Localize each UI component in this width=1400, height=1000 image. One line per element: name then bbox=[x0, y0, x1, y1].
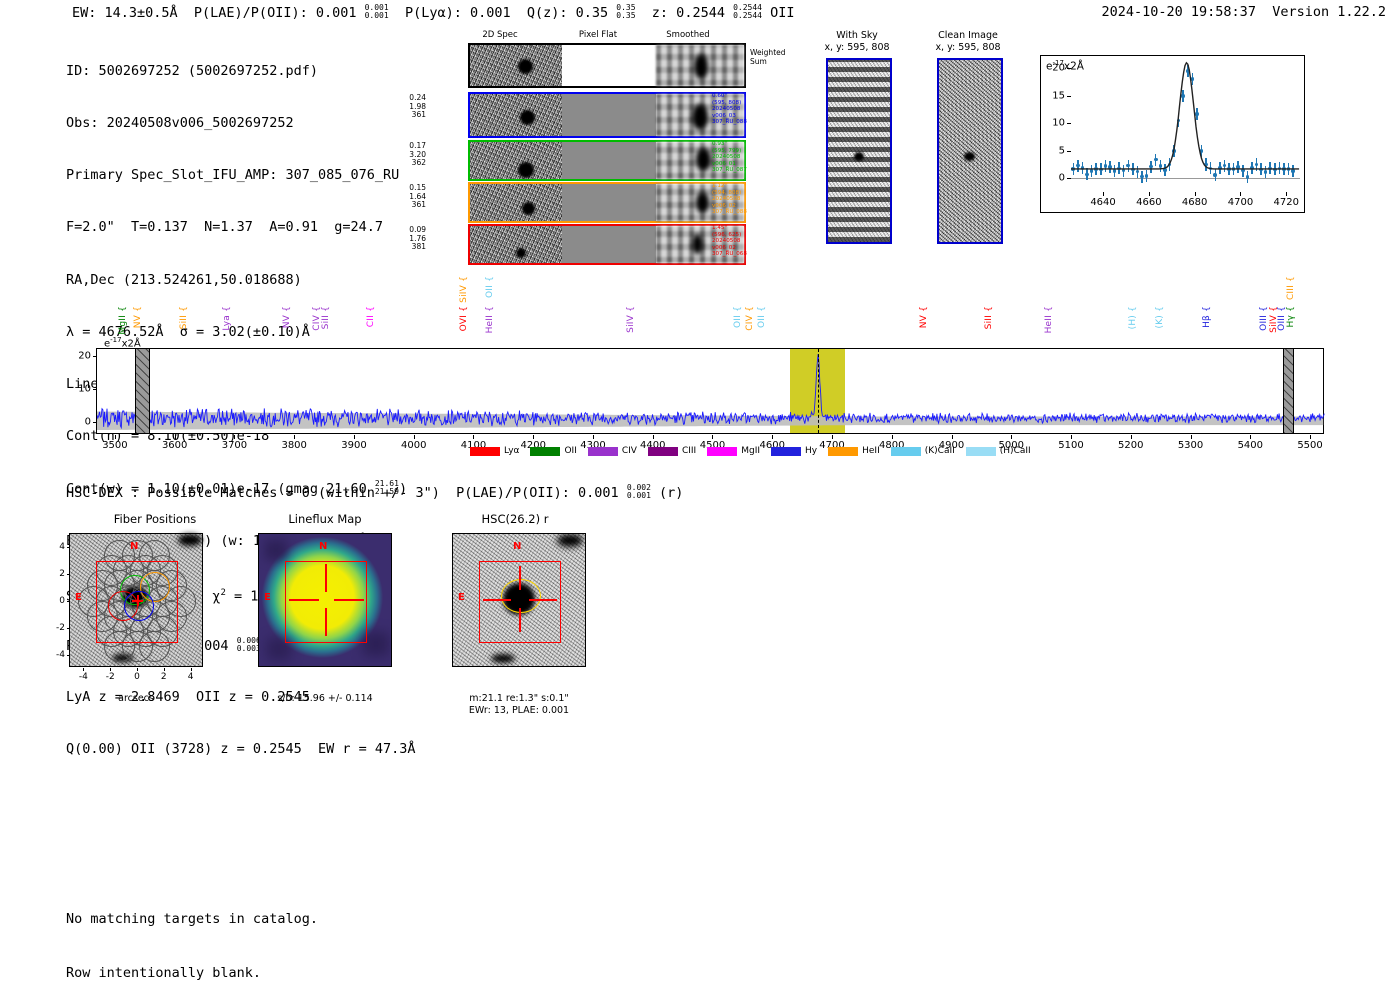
z-errors: 0.25440.2544 bbox=[733, 4, 762, 20]
compass-north-hsc: N bbox=[513, 541, 521, 552]
footer-line-1: No matching targets in catalog. bbox=[66, 910, 318, 928]
spectrum-line-label: (H) { bbox=[1128, 306, 1138, 329]
weighted-sum-row bbox=[468, 43, 746, 88]
panel-xlabel-arcsecs: arcsecs bbox=[69, 693, 203, 705]
fiber-row-meta: 1.45"(596, 625)20240508v006_02307_RU_068 bbox=[712, 225, 772, 258]
legend-swatch bbox=[966, 447, 996, 456]
plae-sub: 0.001 bbox=[365, 12, 389, 20]
spectrum-line-label: CII { bbox=[366, 306, 376, 327]
legend-swatch bbox=[588, 447, 618, 456]
fiber-row-meta: 0.60"(595, 808)20240508v006_03307_RU_088 bbox=[712, 93, 772, 126]
info-line-q: Q(0.00) OII (3728) z = 0.2545 EW r = 47.… bbox=[66, 741, 416, 758]
spectrum-line-label: SiII { bbox=[984, 306, 994, 329]
legend-label: MgII bbox=[741, 446, 760, 456]
legend-label: Lyα bbox=[504, 446, 519, 456]
hsc-aperture-ellipse bbox=[501, 579, 541, 613]
fiber-meta: v006_02 bbox=[712, 203, 772, 210]
legend-item: MgII bbox=[707, 446, 760, 456]
panel-ytick: 4 bbox=[46, 542, 65, 552]
panel-ytick: 2 bbox=[46, 569, 65, 579]
fiber-positions-image: N E -4-4-2-2002244 bbox=[69, 533, 203, 667]
legend-label: CIII bbox=[682, 446, 696, 456]
header-mid2: z: 0.2544 bbox=[636, 5, 734, 21]
legend-item: HeII bbox=[828, 446, 880, 456]
full-spectrum-plot: 0102035003600370038003900400041004200430… bbox=[96, 348, 1324, 434]
spec-ytick: 10 bbox=[63, 383, 91, 394]
spec-xtick: 5300 bbox=[1178, 440, 1203, 451]
legend-swatch bbox=[828, 447, 858, 456]
spec-xtick: 4000 bbox=[401, 440, 426, 451]
spec-xtick: 3800 bbox=[281, 440, 306, 451]
panel-xtick: 2 bbox=[161, 672, 167, 682]
spectrum-line-label: MgII { bbox=[118, 306, 128, 335]
fiber-stat: 361 bbox=[392, 201, 426, 210]
masked-band bbox=[135, 349, 150, 433]
with-sky-coords: x, y: 595, 808 bbox=[824, 42, 889, 53]
compass-east-hsc: E bbox=[458, 592, 465, 603]
footer-line-2: Row intentionally blank. bbox=[66, 964, 318, 982]
hsc-dex-sub: 0.001 bbox=[627, 492, 651, 500]
spectrum-line-label: OII { bbox=[485, 276, 495, 298]
legend-item: OII bbox=[530, 446, 576, 456]
legend-label: CIV bbox=[622, 446, 637, 456]
compass-east-fiber: E bbox=[75, 592, 82, 603]
legend-swatch bbox=[470, 447, 500, 456]
spec-xtick: 3500 bbox=[102, 440, 127, 451]
fiber-meta: 1.45" bbox=[712, 225, 772, 232]
legend-item: CIII bbox=[648, 446, 696, 456]
legend-item: CIV bbox=[588, 446, 637, 456]
fiber-row bbox=[468, 92, 746, 138]
fiber-meta: v006_02 bbox=[712, 245, 772, 252]
clean-image-coords: x, y: 595, 808 bbox=[935, 42, 1000, 53]
fiber-meta: 20240508 bbox=[712, 238, 772, 245]
fiber-meta: 307_RU_088 bbox=[712, 209, 772, 216]
legend-label: OII bbox=[564, 446, 576, 456]
plae-ratio-errors: 0.0010.001 bbox=[365, 4, 389, 20]
fiber-row-stats: 0.241.98361 bbox=[392, 94, 426, 120]
fiber-meta: 307_RU_088 bbox=[712, 119, 772, 126]
spectrum-line-label: SiII { bbox=[179, 306, 189, 329]
spec-xtick: 5500 bbox=[1297, 440, 1322, 451]
lineflux-map-image: N E -4-4-2-2002244 bbox=[258, 533, 392, 667]
fiber-meta: 307_RU_087 bbox=[712, 167, 772, 174]
qz-sub: 0.35 bbox=[616, 12, 635, 20]
spectrum-line-label: Hγ { bbox=[1286, 306, 1296, 327]
fiber-row-meta: 1.12"(594, 808)20240508v006_02307_RU_088 bbox=[712, 183, 772, 216]
qz-errors: 0.350.35 bbox=[616, 4, 635, 20]
spec-xtick: 5400 bbox=[1238, 440, 1263, 451]
footer-note: No matching targets in catalog. Row inte… bbox=[66, 874, 318, 1000]
spec-xtick: 5100 bbox=[1058, 440, 1083, 451]
fiber-meta: 0.93" bbox=[712, 141, 772, 148]
with-sky-cutout bbox=[826, 58, 892, 244]
z-sub: 0.2544 bbox=[733, 12, 762, 20]
spectrum-line-label: SiII { bbox=[321, 306, 331, 329]
weighted-sum-label: WeightedSum bbox=[750, 48, 786, 66]
fiber-meta: (594, 808) bbox=[712, 190, 772, 197]
spectrum-line-label: NV { bbox=[919, 306, 929, 328]
fiber-stat: 362 bbox=[392, 159, 426, 168]
legend-label: HeII bbox=[862, 446, 880, 456]
spectrum-line-label: (K) { bbox=[1155, 306, 1165, 329]
panel-ytick: 0 bbox=[46, 596, 65, 606]
fiber-meta: 0.60" bbox=[712, 93, 772, 100]
spectrum-line-label: NV { bbox=[133, 306, 143, 328]
fiber-meta: 1.12" bbox=[712, 183, 772, 190]
spec-xtick: 3900 bbox=[341, 440, 366, 451]
spectrum-line-label: OII { bbox=[733, 306, 743, 328]
hsc-r-image: N E -4-4-2-2002244 bbox=[452, 533, 586, 667]
spectrum-line-label: SiIV { bbox=[459, 276, 469, 303]
fiber-stat: 361 bbox=[392, 111, 426, 120]
fiber-meta: (595, 799) bbox=[712, 148, 772, 155]
fiber-row-stats: 0.173.20362 bbox=[392, 142, 426, 168]
panel-ytick: -4 bbox=[46, 650, 65, 660]
fiber-meta: (595, 808) bbox=[712, 100, 772, 107]
cutout-title-clean: Clean Image x, y: 595, 808 bbox=[918, 30, 1018, 53]
fiber-row bbox=[468, 182, 746, 223]
cutout-title-with-sky: With Sky x, y: 595, 808 bbox=[812, 30, 902, 53]
legend-swatch bbox=[771, 447, 801, 456]
legend-item: Lyα bbox=[470, 446, 519, 456]
panel-xtick: 4 bbox=[188, 672, 194, 682]
panel-title-lineflux-map: Lineflux Map bbox=[240, 512, 410, 526]
legend-label: (K)CaII bbox=[925, 446, 955, 456]
spectrum-line-label: Hβ { bbox=[1202, 306, 1212, 328]
info-line-primary-spec: Primary Spec_Slot_IFU_AMP: 307_085_076_R… bbox=[66, 167, 416, 184]
masked-band bbox=[1283, 349, 1294, 433]
fiber-meta: 20240508 bbox=[712, 106, 772, 113]
timestamp-version: 2024-10-20 19:58:37 Version 1.22.2 bbox=[1102, 4, 1386, 20]
col-title-2d-spec: 2D Spec bbox=[460, 30, 540, 40]
fiber-meta: 20240508 bbox=[712, 196, 772, 203]
info-line-params: F=2.0" T=0.137 N=1.37 A=0.91 g=24.7 bbox=[66, 219, 416, 236]
spectrum-line-label: OIII { bbox=[1259, 306, 1269, 331]
legend-item: (H)CaII bbox=[966, 446, 1031, 456]
spectrum-line-labels: MgII {NV {SiII {Lya {NV {CIV {SiII {CII … bbox=[96, 276, 1324, 348]
fiber-meta: v006_01 bbox=[712, 161, 772, 168]
emission-marker-line bbox=[818, 349, 820, 433]
compass-north-lineflux: N bbox=[319, 541, 327, 552]
header-mid1: P(Lyα): 0.001 Q(z): 0.35 bbox=[389, 5, 617, 21]
spectrum-line-label: CIII { bbox=[1286, 276, 1296, 300]
compass-north-fiber: N bbox=[130, 541, 138, 552]
panel-xtick: 0 bbox=[134, 672, 140, 682]
spectrum-line-label: HeII { bbox=[1044, 306, 1054, 333]
fiber-highlight-blue bbox=[124, 591, 154, 621]
panel-title-hsc-r: HSC(26.2) r bbox=[425, 512, 605, 526]
panel-xtick: -2 bbox=[106, 672, 115, 682]
spectrum-line-label: HeII { bbox=[485, 306, 495, 333]
with-sky-title: With Sky bbox=[836, 30, 877, 41]
compass-east-lineflux: E bbox=[264, 592, 271, 603]
panel-caption-sb: s/b: 15.96 +/- 0.114 bbox=[238, 693, 412, 705]
fiber-row-stats: 0.151.64361 bbox=[392, 184, 426, 210]
fiber-row-stats: 0.091.76381 bbox=[392, 226, 426, 252]
fiber-meta: v006_03 bbox=[712, 113, 772, 120]
fiber-stat: 381 bbox=[392, 243, 426, 252]
header-tail: OII bbox=[762, 5, 795, 21]
legend-swatch bbox=[648, 447, 678, 456]
spectrum-line-label: SiIV { bbox=[626, 306, 636, 333]
legend-swatch bbox=[707, 447, 737, 456]
fiber-row-meta: 0.93"(595, 799)20240508v006_01307_RU_087 bbox=[712, 141, 772, 174]
spec-xtick: 3700 bbox=[222, 440, 247, 451]
col-title-smoothed: Smoothed bbox=[648, 30, 728, 40]
legend-swatch bbox=[891, 447, 921, 456]
lz-fit-curve bbox=[1041, 56, 1306, 214]
spectrum-legend: LyαOIICIVCIIIMgIIHyHeII(K)CaII(H)CaII bbox=[470, 446, 1031, 456]
hsc-dex-summary: HSC-DEX : Possible Matches = 0 (within +… bbox=[66, 484, 683, 501]
legend-label: (H)CaII bbox=[1000, 446, 1031, 456]
spectrum-line-label: NV { bbox=[282, 306, 292, 328]
spectrum-line-label: OVI { bbox=[459, 306, 469, 331]
fiber-meta: 20240508 bbox=[712, 154, 772, 161]
panel-xtick: -4 bbox=[79, 672, 88, 682]
header-summary-prefix: EW: 14.3±0.5Å P(LAE)/P(OII): 0.001 bbox=[72, 5, 365, 21]
panel-ytick: -2 bbox=[46, 623, 65, 633]
legend-swatch bbox=[530, 447, 560, 456]
spec-xtick: 5200 bbox=[1118, 440, 1143, 451]
hsc-dex-tail: (r) bbox=[651, 485, 684, 501]
header-summary: EW: 14.3±0.5Å P(LAE)/P(OII): 0.001 0.001… bbox=[72, 4, 795, 21]
spectrum-line-label: CIV { bbox=[745, 306, 755, 331]
fiber-row bbox=[468, 224, 746, 265]
clean-image-cutout bbox=[937, 58, 1003, 244]
clean-image-title: Clean Image bbox=[938, 30, 998, 41]
spectrum-trace bbox=[97, 349, 1325, 435]
spec-ytick: 0 bbox=[63, 416, 91, 427]
panel-caption-hsc: m:21.1 re:1.3" s:0.1" EWr: 13, PLAE: 0.0… bbox=[432, 693, 606, 717]
info-line-id: ID: 5002697252 (5002697252.pdf) bbox=[66, 63, 416, 80]
legend-item: (K)CaII bbox=[891, 446, 955, 456]
emission-line-zoom-plot: e-17x2Å 0510152046404660468047004720 bbox=[1040, 55, 1305, 213]
panel-title-fiber-positions: Fiber Positions bbox=[60, 512, 250, 526]
legend-item: Hy bbox=[771, 446, 817, 456]
fiber-meta: (596, 625) bbox=[712, 232, 772, 239]
two-d-spectra-panel: 2D Spec Pixel Flat Smoothed WeightedSum … bbox=[430, 30, 760, 265]
hsc-dex-plae-errors: 0.0020.001 bbox=[627, 484, 651, 500]
col-title-pixel-flat: Pixel Flat bbox=[558, 30, 638, 40]
fiber-meta: 307_RU_068 bbox=[712, 251, 772, 258]
spectrum-line-label: OII { bbox=[757, 306, 767, 328]
fiber-row bbox=[468, 140, 746, 181]
spec-ytick: 20 bbox=[63, 350, 91, 361]
spec-xtick: 3600 bbox=[162, 440, 187, 451]
hsc-dex-prefix: HSC-DEX : Possible Matches = 0 (within +… bbox=[66, 485, 627, 501]
spectrum-line-label: Lya { bbox=[222, 306, 232, 331]
info-line-obs: Obs: 20240508v006_5002697252 bbox=[66, 115, 416, 132]
legend-label: Hy bbox=[805, 446, 817, 456]
